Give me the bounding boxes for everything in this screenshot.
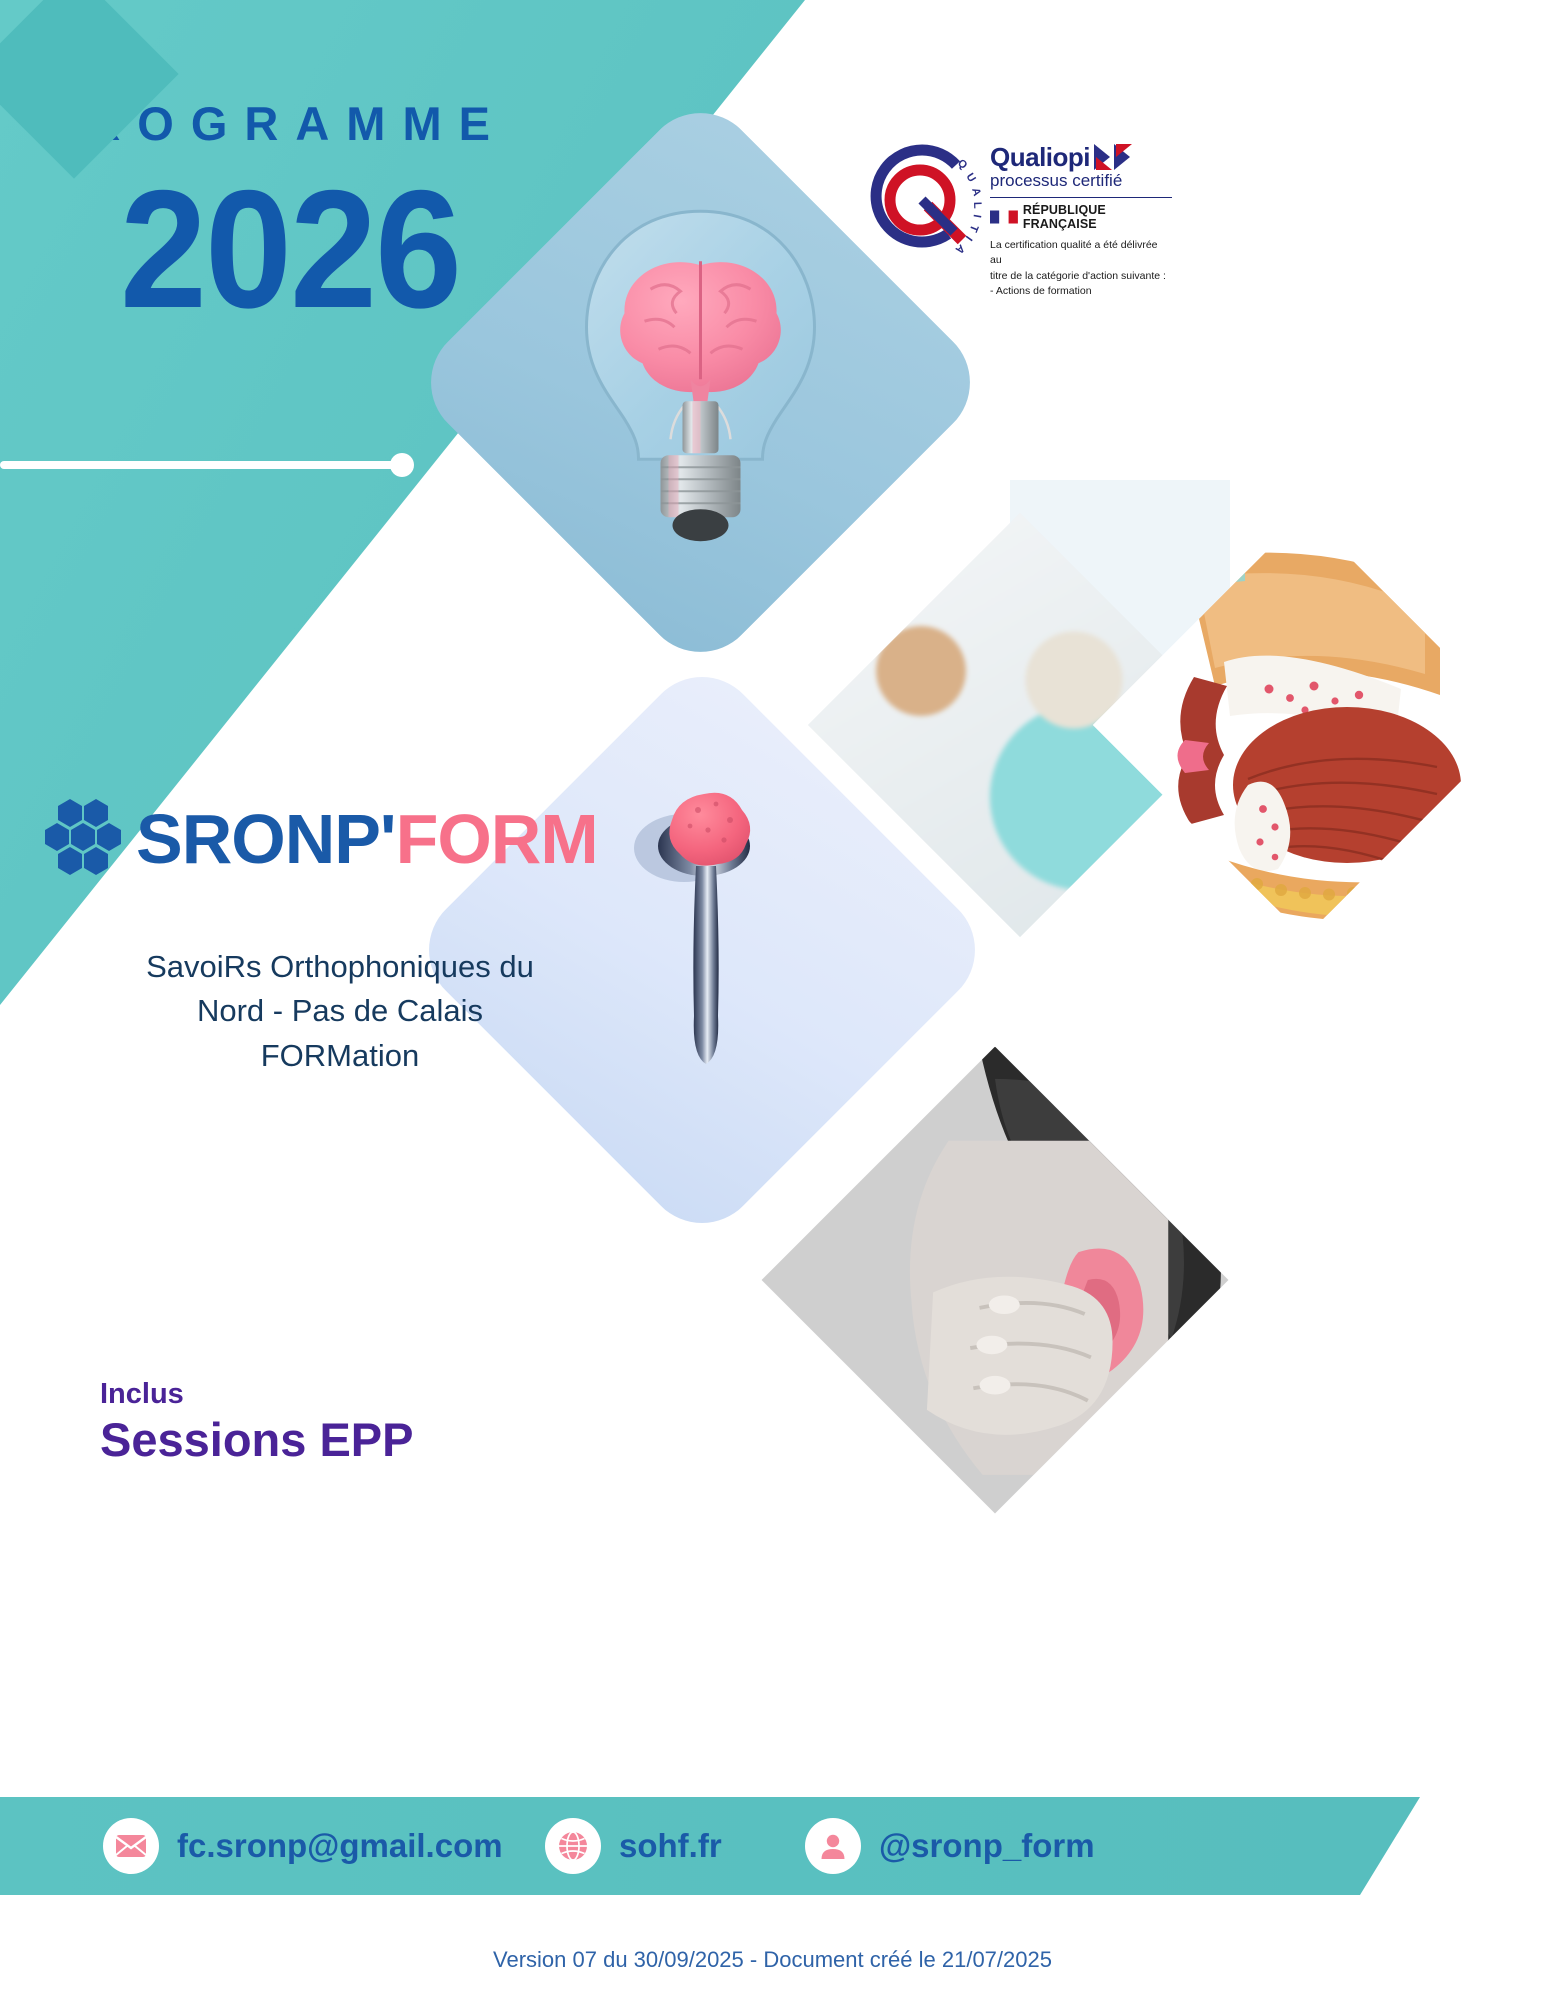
contact-bar-tail — [1360, 1797, 1420, 1895]
contact-email-label: fc.sronp@gmail.com — [177, 1827, 503, 1865]
qualitia-q-mark-icon: Q U A L I T I A — [862, 140, 982, 258]
brand-tagline: SavoiRs Orthophoniques du Nord - Pas de … — [60, 945, 620, 1078]
header-divider-dot — [390, 453, 414, 477]
svg-text:L: L — [971, 202, 982, 209]
svg-text:U: U — [963, 171, 977, 184]
brand-name-secondary: FORM — [396, 800, 598, 878]
svg-text:T: T — [967, 223, 981, 234]
hexagon-cluster-icon — [44, 797, 122, 881]
header-divider-line — [0, 461, 400, 469]
svg-text:A: A — [969, 187, 982, 198]
contact-social[interactable]: @sronp_form — [805, 1818, 1095, 1874]
qualiopi-note-line-1: La certification qualité a été délivrée … — [990, 238, 1172, 268]
contact-social-label: @sronp_form — [879, 1827, 1095, 1865]
tagline-line-1: SavoiRs Orthophoniques du — [60, 945, 620, 989]
contact-website-label: sohf.fr — [619, 1827, 722, 1865]
spoon-icon — [612, 770, 792, 1130]
qualiopi-certification-block: Q U A L I T I A Qualiopi — [862, 140, 1172, 285]
sessions-epp-label: Sessions EPP — [100, 1412, 414, 1467]
french-flag-icon — [990, 210, 1018, 224]
qualiopi-subtitle: processus certifié — [990, 170, 1172, 192]
svg-text:I: I — [963, 233, 975, 243]
qualiopi-note-line-3: - Actions de formation — [990, 284, 1172, 299]
contact-website[interactable]: sohf.fr — [545, 1818, 722, 1874]
lightbulb-icon — [551, 193, 851, 573]
qualiopi-title: Qualiopi — [990, 144, 1090, 170]
inclus-label: Inclus — [100, 1378, 184, 1411]
cover-page: PROGRAMME 2026 — [0, 0, 1545, 2000]
brand-name-primary: SRONP' — [136, 800, 396, 878]
contact-bar: fc.sronp@gmail.com sohf.fr — [0, 1797, 1360, 1895]
person-icon — [805, 1818, 861, 1874]
tagline-line-2: Nord - Pas de Calais — [60, 989, 620, 1033]
page-title-year: 2026 — [120, 165, 460, 333]
version-line: Version 07 du 30/09/2025 - Document créé… — [0, 1947, 1545, 1973]
brand-logo: SRONP'FORM — [44, 797, 598, 881]
globe-icon — [545, 1818, 601, 1874]
email-icon — [103, 1818, 159, 1874]
tagline-line-3: FORMation — [60, 1034, 620, 1078]
qualiopi-chevrons-icon — [1094, 144, 1142, 170]
qualiopi-note-line-2: titre de la catégorie d'action suivante … — [990, 269, 1172, 284]
republique-francaise-label: RÉPUBLIQUE FRANÇAISE — [1023, 203, 1172, 231]
svg-text:I: I — [971, 213, 982, 218]
contact-email[interactable]: fc.sronp@gmail.com — [103, 1818, 503, 1874]
qualiopi-note: La certification qualité a été délivrée … — [990, 238, 1172, 299]
svg-text:A: A — [953, 242, 967, 256]
